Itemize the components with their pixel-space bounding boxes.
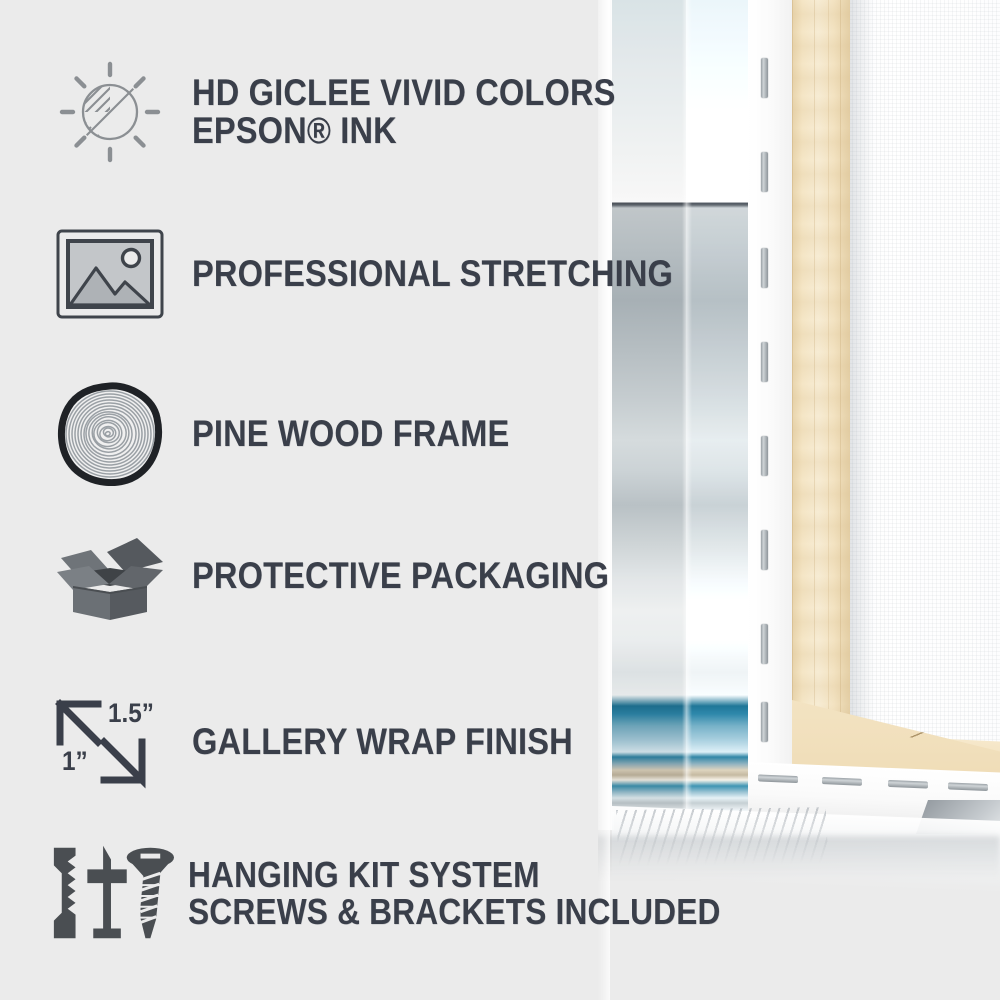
feature-label-line: PROTECTIVE PACKAGING	[192, 557, 609, 595]
hardware-icon	[46, 843, 174, 943]
feature-label-line: PROFESSIONAL STRETCHING	[192, 255, 673, 293]
staple	[761, 58, 768, 98]
staple	[761, 436, 768, 476]
feature-row-hanging: HANGING KIT SYSTEM SCREWS & BRACKETS INC…	[46, 843, 793, 943]
staple	[761, 702, 768, 742]
feature-list: HD GICLEE VIVID COLORS EPSON® INK PROFES…	[0, 0, 620, 1000]
staple	[888, 780, 928, 789]
feature-row-stretching: PROFESSIONAL STRETCHING	[46, 228, 739, 320]
depth-label-top: 1.5”	[108, 698, 154, 729]
feature-label-giclee: HD GICLEE VIVID COLORS EPSON® INK	[192, 74, 616, 151]
canvas-back-shadow	[848, 0, 874, 748]
staple	[758, 774, 798, 783]
tree-rings-icon	[46, 382, 174, 486]
staple	[761, 342, 768, 382]
feature-label-line: GALLERY WRAP FINISH	[192, 723, 573, 761]
art-corner-crease	[682, 0, 692, 812]
art-face-side	[686, 0, 748, 812]
staple	[761, 152, 768, 192]
pine-stretcher-bar-vertical	[792, 0, 850, 762]
staple	[761, 624, 768, 664]
wood-grain	[792, 0, 850, 762]
infographic-canvas: HD GICLEE VIVID COLORS EPSON® INK PROFES…	[0, 0, 1000, 1000]
feature-row-wrap: 1.5” 1” GALLERY WRAP FINISH	[46, 690, 625, 794]
staple	[761, 248, 768, 288]
art-color-bands	[686, 0, 748, 812]
feature-label-wrap: GALLERY WRAP FINISH	[192, 723, 573, 761]
feature-label-line: PINE WOOD FRAME	[192, 415, 509, 453]
depth-arrows-icon: 1.5” 1”	[46, 690, 174, 794]
feature-label-packaging: PROTECTIVE PACKAGING	[192, 557, 609, 595]
feature-label-pine: PINE WOOD FRAME	[192, 415, 509, 453]
feature-label-line: HANGING KIT SYSTEM	[188, 856, 721, 893]
open-box-icon	[46, 528, 174, 624]
feature-label-line: SCREWS & BRACKETS INCLUDED	[188, 893, 721, 930]
sun-icon	[46, 58, 174, 166]
feature-row-packaging: PROTECTIVE PACKAGING	[46, 528, 666, 624]
feature-label-hanging: HANGING KIT SYSTEM SCREWS & BRACKETS INC…	[188, 856, 721, 931]
feature-row-giclee: HD GICLEE VIVID COLORS EPSON® INK	[46, 58, 673, 166]
depth-label-bottom: 1”	[62, 746, 88, 777]
feature-label-line: EPSON® INK	[192, 112, 616, 150]
staple	[822, 777, 862, 786]
feature-label-line: HD GICLEE VIVID COLORS	[192, 74, 616, 112]
canvas-wrap-edge	[748, 0, 792, 818]
staple	[761, 530, 768, 570]
feature-label-stretching: PROFESSIONAL STRETCHING	[192, 255, 673, 293]
staple	[948, 782, 988, 791]
feature-row-pine: PINE WOOD FRAME	[46, 382, 553, 486]
picture-frame-icon	[46, 228, 174, 320]
